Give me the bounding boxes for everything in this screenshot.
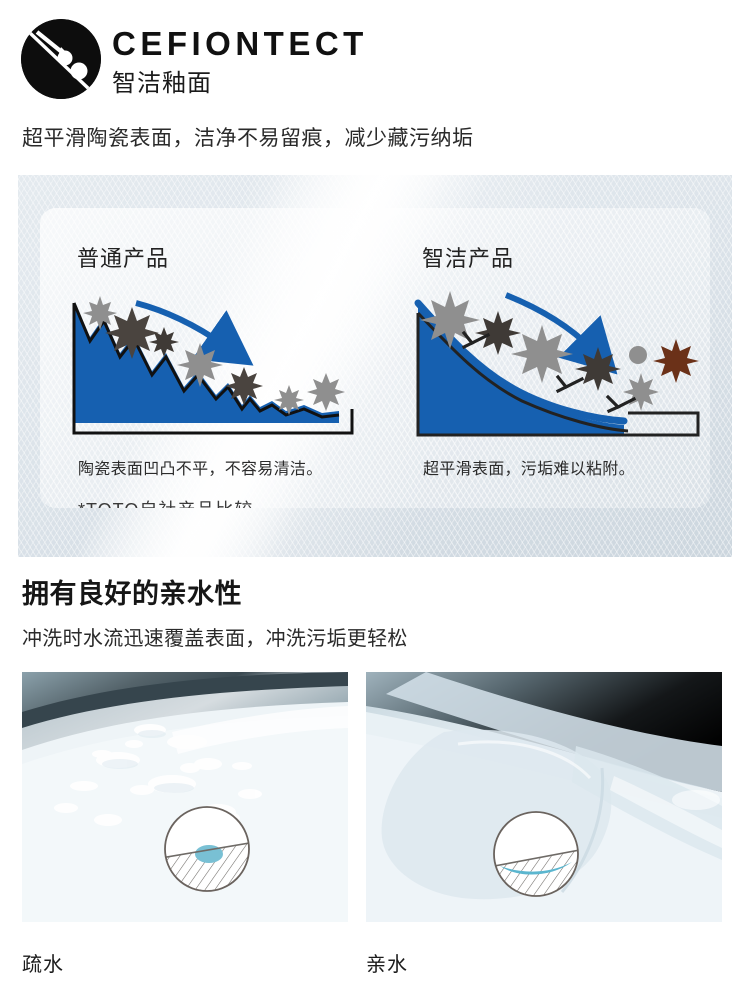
hydrophobic-photo xyxy=(22,672,348,922)
smooth-curved-surface-icon xyxy=(410,283,710,448)
hydrophilic-title: 拥有良好的亲水性 xyxy=(22,572,242,611)
hydrophilic-photo-label: 亲水 xyxy=(366,948,408,977)
brand-block: CEFIONTECT 智洁釉面 xyxy=(112,24,368,100)
diagram-footnote: *TOTO自社产品比较 xyxy=(78,496,253,508)
comparison-diagram-section: 普通产品 智洁产品 xyxy=(18,175,732,557)
cefiontect-droplet-repel-icon xyxy=(21,19,101,99)
brand-subtitle: 智洁釉面 xyxy=(112,68,368,100)
hydrophobic-photo-label: 疏水 xyxy=(22,948,64,977)
ordinary-product-caption: 陶瓷表面凹凸不平，不容易清洁。 xyxy=(78,455,323,479)
hydrophilic-description: 冲洗时水流迅速覆盖表面，冲洗污垢更轻松 xyxy=(22,622,408,651)
brand-name: CEFIONTECT xyxy=(112,24,368,64)
header: CEFIONTECT 智洁釉面 超平滑陶瓷表面，洁净不易留痕，减少藏污纳垢 xyxy=(0,0,750,165)
header-description: 超平滑陶瓷表面，洁净不易留痕，减少藏污纳垢 xyxy=(22,122,474,152)
rough-zigzag-surface-icon xyxy=(64,283,364,448)
cefiontect-product-caption: 超平滑表面，污垢难以粘附。 xyxy=(423,455,635,479)
cefiontect-product-title: 智洁产品 xyxy=(422,241,514,273)
comparison-card: 普通产品 智洁产品 xyxy=(40,208,710,508)
hydrophilic-photo xyxy=(366,672,722,922)
ordinary-product-title: 普通产品 xyxy=(77,241,169,273)
